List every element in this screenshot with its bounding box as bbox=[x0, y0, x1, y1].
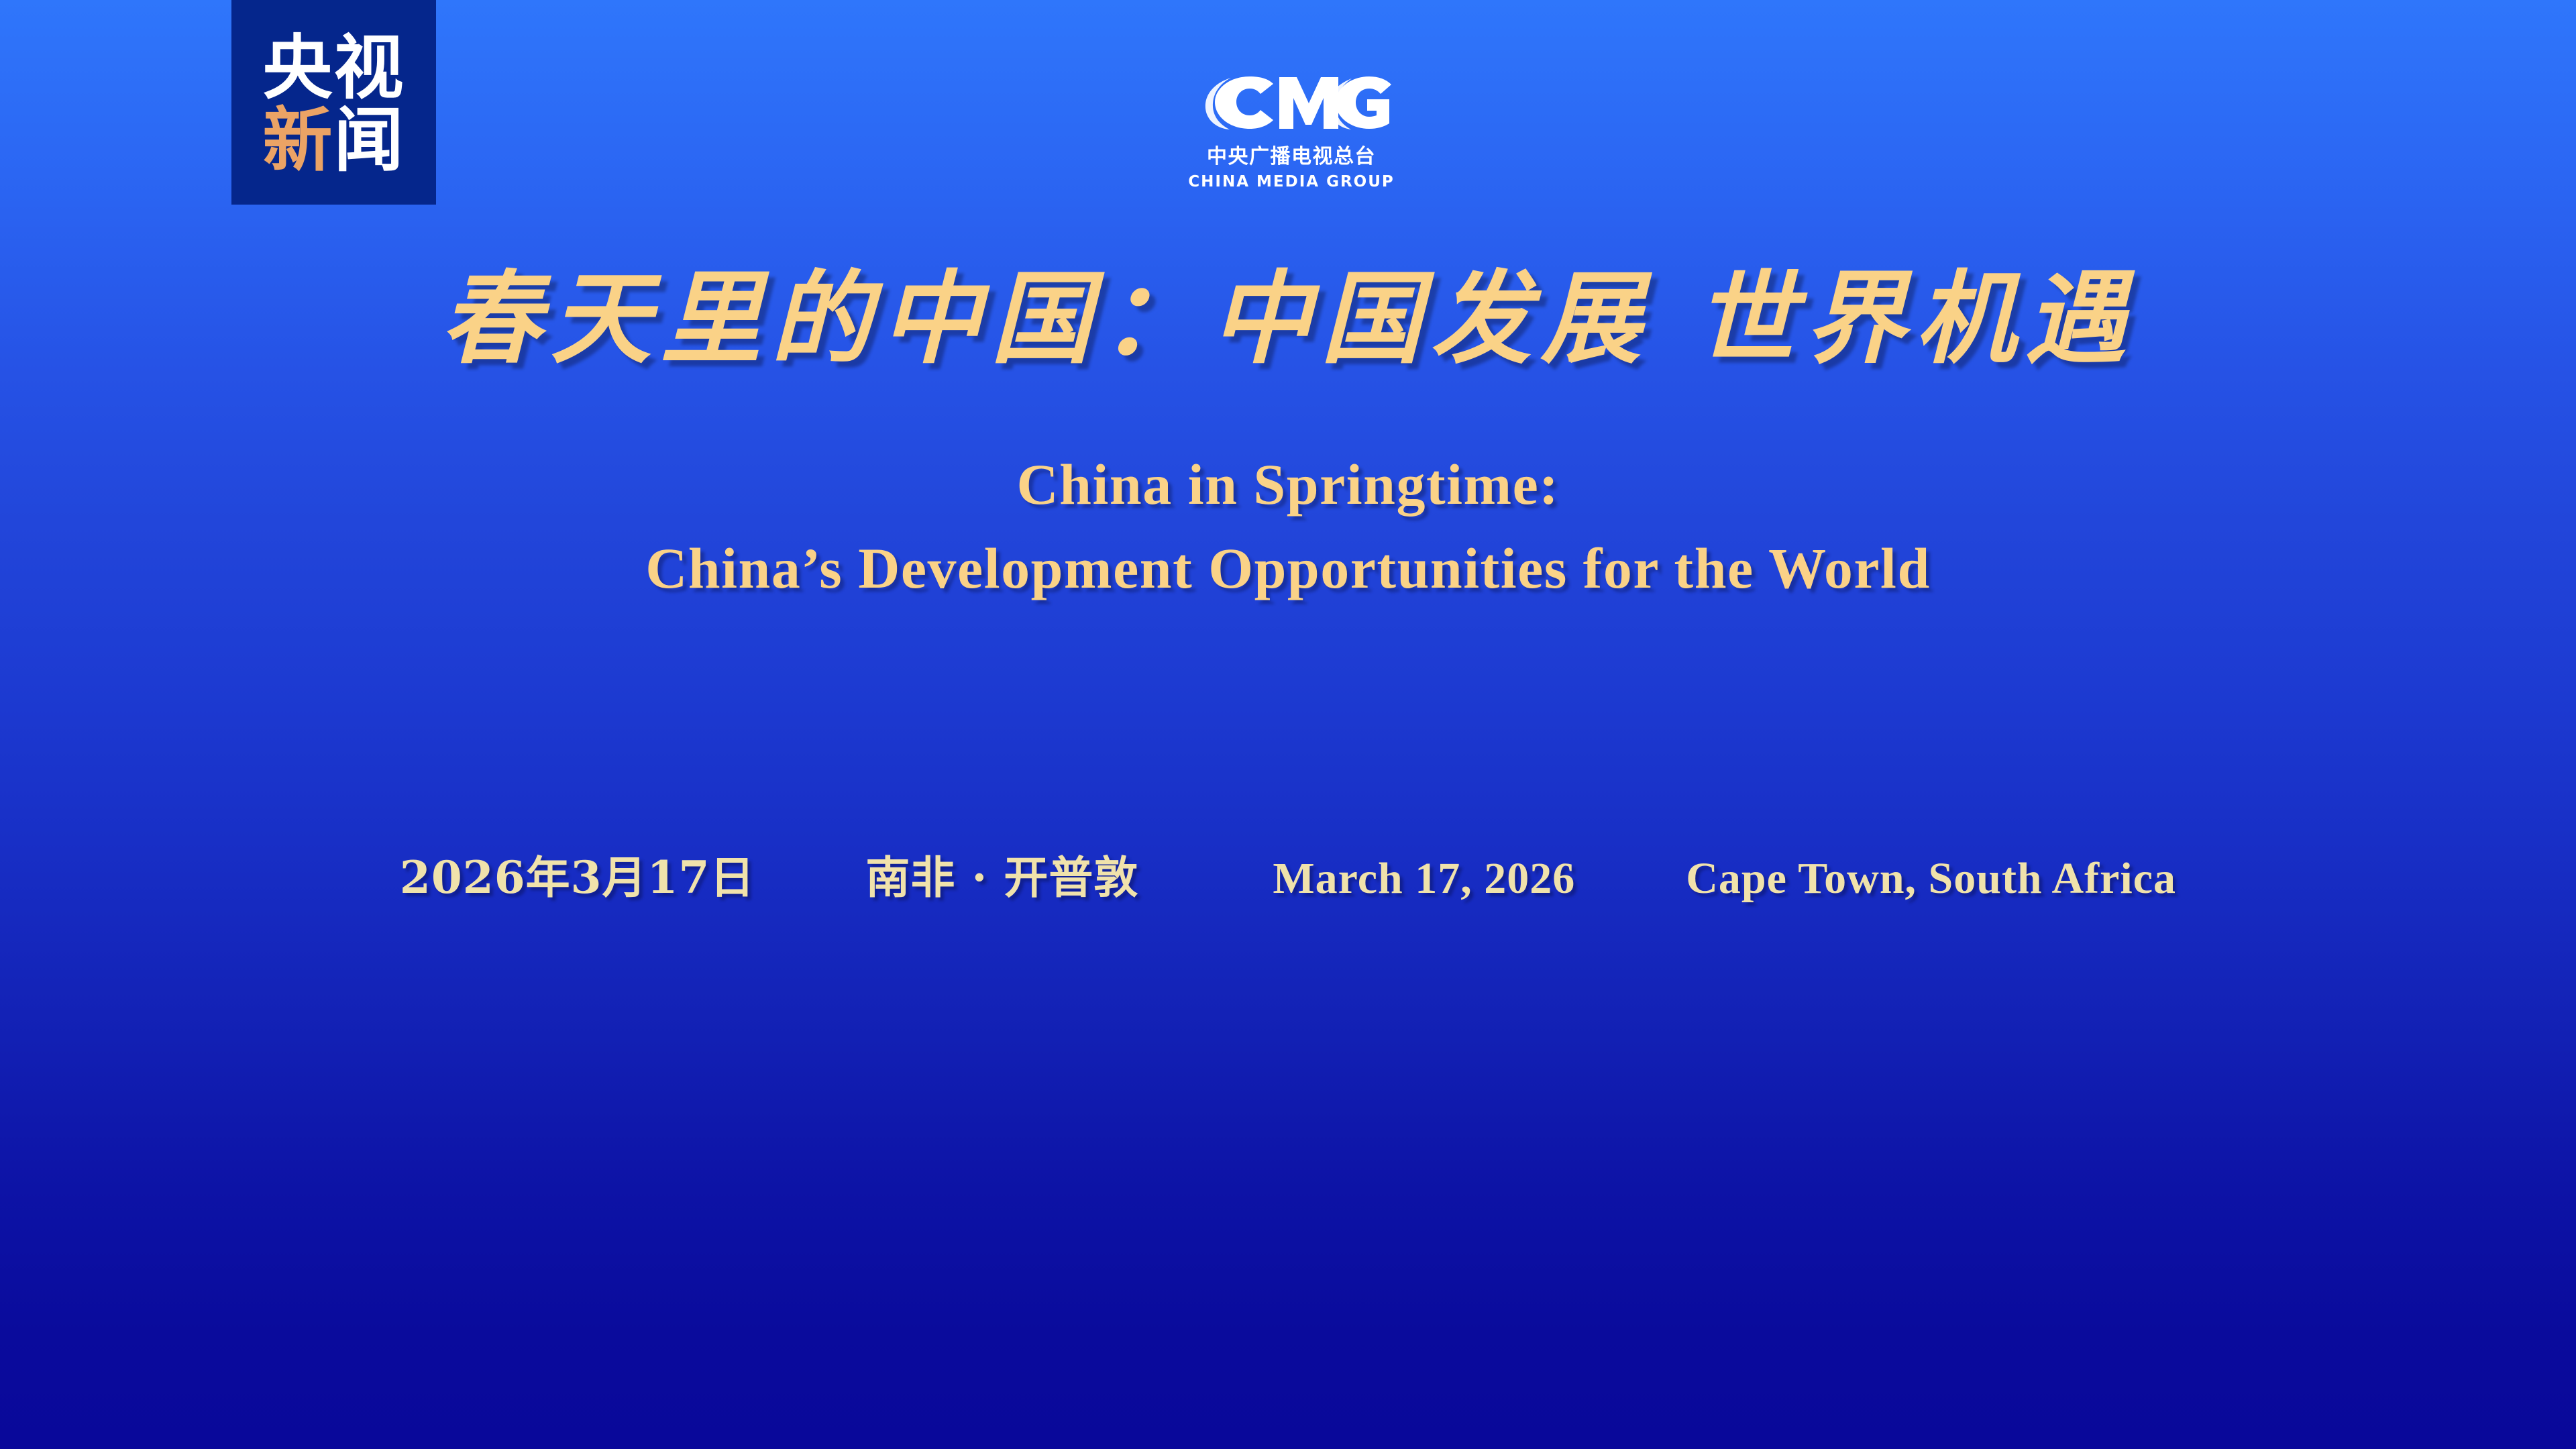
cmg-english-name: CHINA MEDIA GROUP bbox=[1188, 173, 1394, 191]
subtitle-line-1: China in Springtime: bbox=[0, 443, 2576, 527]
cctv-logo-char-wen: 闻 bbox=[334, 107, 405, 175]
cctv-logo-line2: 新 闻 bbox=[262, 107, 405, 175]
subtitle-block: China in Springtime: China’s Development… bbox=[0, 443, 2576, 610]
event-date-chinese: 2026年3月17日 bbox=[400, 842, 755, 906]
subtitle-line-2: China’s Development Opportunities for th… bbox=[0, 527, 2576, 610]
event-location-english: Cape Town, South Africa bbox=[1686, 853, 2176, 904]
cctv-logo-line1: 央视 bbox=[262, 34, 405, 103]
headline-chinese: 春天里的中国：中国发展 世界机遇 bbox=[0, 268, 2576, 369]
event-location-chinese: 南非 · 开普敦 bbox=[865, 842, 1138, 906]
event-meta-row: 2026年3月17日 南非 · 开普敦 March 17, 2026 Cape … bbox=[0, 842, 2576, 906]
event-date-english: March 17, 2026 bbox=[1273, 853, 1575, 904]
cmg-chinese-name: 中央广播电视总台 bbox=[1207, 140, 1376, 169]
cmg-logo: 中央广播电视总台 CHINA MEDIA GROUP bbox=[1191, 64, 1392, 199]
cctv-logo-char-xin: 新 bbox=[262, 107, 333, 175]
cmg-wordmark-icon bbox=[1191, 64, 1392, 138]
cctv-news-logo: 央视 新 闻 bbox=[231, 0, 436, 205]
